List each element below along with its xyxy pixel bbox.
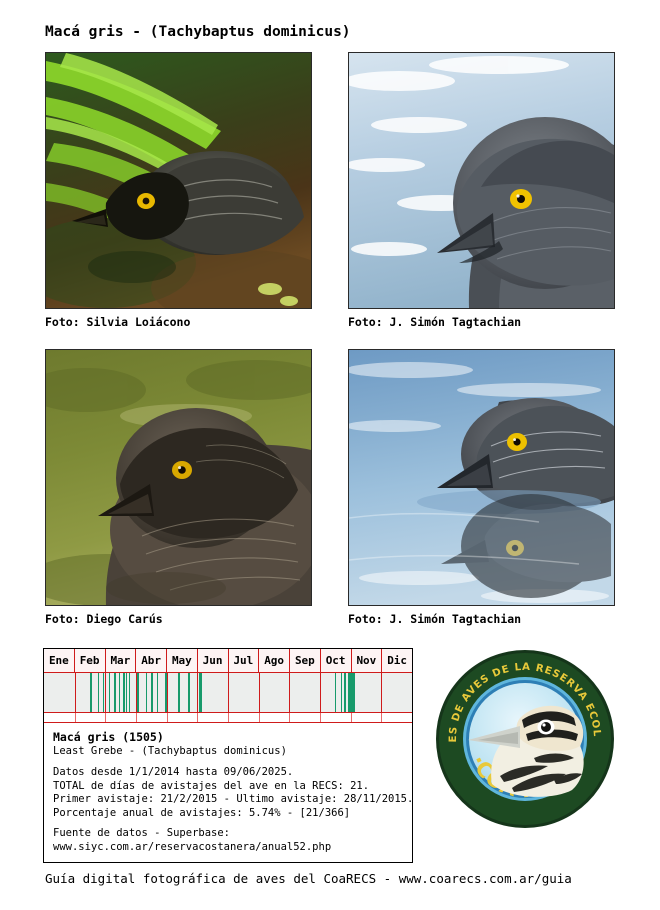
species-info-block: Macá gris (1505) Least Grebe - (Tachybap… — [44, 723, 412, 854]
sighting-tick — [103, 673, 105, 712]
month-gridline-foot — [105, 713, 106, 722]
caption-bottom-right: Foto: J. Simón Tagtachian — [348, 612, 521, 626]
sighting-tick — [341, 673, 343, 712]
month-cell-mar: Mar — [106, 649, 137, 672]
month-cell-ago: Ago — [259, 649, 290, 672]
caption-bottom-left: Foto: Diego Carús — [45, 612, 163, 626]
month-gridline — [289, 673, 290, 712]
month-gridline-foot — [289, 713, 290, 722]
month-gridline — [259, 673, 260, 712]
page-footer: Guía digital fotográfica de aves del Coa… — [45, 871, 572, 886]
month-cell-sep: Sep — [290, 649, 321, 672]
sighting-tick — [90, 673, 92, 712]
sighting-tick — [126, 673, 128, 712]
month-gridline-foot — [351, 713, 352, 722]
month-cell-jul: Jul — [229, 649, 260, 672]
month-gridline — [228, 673, 229, 712]
sighting-tick — [157, 673, 159, 712]
month-cell-oct: Oct — [321, 649, 352, 672]
sighting-tick-cluster — [199, 673, 202, 712]
month-gridline-foot — [320, 713, 321, 722]
sighting-tick — [109, 673, 111, 712]
month-cell-nov: Nov — [352, 649, 383, 672]
month-cell-may: May — [167, 649, 198, 672]
month-cell-ene: Ene — [44, 649, 75, 672]
sighting-tick — [335, 673, 337, 712]
sighting-tick-cluster — [348, 673, 353, 712]
month-gridline-foot — [167, 713, 168, 722]
month-gridline — [105, 673, 106, 712]
sighting-tick — [178, 673, 180, 712]
month-gridline — [320, 673, 321, 712]
sighting-tick — [146, 673, 148, 712]
month-gridline-foot — [197, 713, 198, 722]
coarecs-logo: CLUB DE OBSERVADORES DE AVES DE LA RESER… — [434, 648, 616, 830]
sighting-tick — [129, 673, 131, 712]
page-root: Macá gris - (Tachybaptus dominicus) — [0, 0, 660, 910]
photo-bottom-left — [45, 349, 312, 606]
sighting-tick — [114, 673, 116, 712]
month-cell-feb: Feb — [75, 649, 106, 672]
sighting-tick — [119, 673, 121, 712]
annual-percentage: Porcentaje anual de avistajes: 5.74% - [… — [53, 807, 412, 821]
sighting-tick — [188, 673, 190, 712]
page-title: Macá gris - (Tachybaptus dominicus) — [45, 24, 351, 40]
calendar-footer-grid — [44, 713, 412, 723]
month-cell-abr: Abr — [136, 649, 167, 672]
sighting-tick — [151, 673, 153, 712]
sighting-tick — [353, 673, 355, 712]
source-url[interactable]: www.siyc.com.ar/reservacostanera/anual52… — [53, 841, 412, 855]
month-cell-jun: Jun — [198, 649, 229, 672]
photo-top-left — [45, 52, 312, 309]
calendar-month-header: Ene Feb Mar Abr May Jun Jul Ago Sep Oct … — [44, 649, 412, 673]
month-cell-dic: Dic — [382, 649, 412, 672]
sighting-tick-band — [44, 673, 412, 713]
sighting-tick — [137, 673, 139, 712]
month-gridline-foot — [381, 713, 382, 722]
photo-bottom-right — [348, 349, 615, 606]
species-name: Macá gris (1505) — [53, 731, 412, 745]
month-gridline-foot — [228, 713, 229, 722]
sighting-tick — [165, 673, 167, 712]
sighting-info-panel: Ene Feb Mar Abr May Jun Jul Ago Sep Oct … — [43, 648, 413, 863]
month-gridline-foot — [259, 713, 260, 722]
month-gridline — [197, 673, 198, 712]
sighting-tick — [344, 673, 346, 712]
source-label: Fuente de datos - Superbase: — [53, 827, 412, 841]
month-gridline-foot — [136, 713, 137, 722]
month-gridline — [75, 673, 76, 712]
sighting-tick — [98, 673, 100, 712]
photo-top-right — [348, 52, 615, 309]
species-english-name: Least Grebe - (Tachybaptus dominicus) — [53, 745, 412, 759]
caption-top-right: Foto: J. Simón Tagtachian — [348, 315, 521, 329]
total-sighting-days: TOTAL de días de avistajes del ave en la… — [53, 780, 412, 794]
caption-top-left: Foto: Silvia Loiácono — [45, 315, 190, 329]
month-gridline-foot — [75, 713, 76, 722]
data-period: Datos desde 1/1/2014 hasta 09/06/2025. — [53, 766, 412, 780]
month-gridline — [381, 673, 382, 712]
first-last-sighting: Primer avistaje: 21/2/2015 - Ultimo avis… — [53, 793, 412, 807]
